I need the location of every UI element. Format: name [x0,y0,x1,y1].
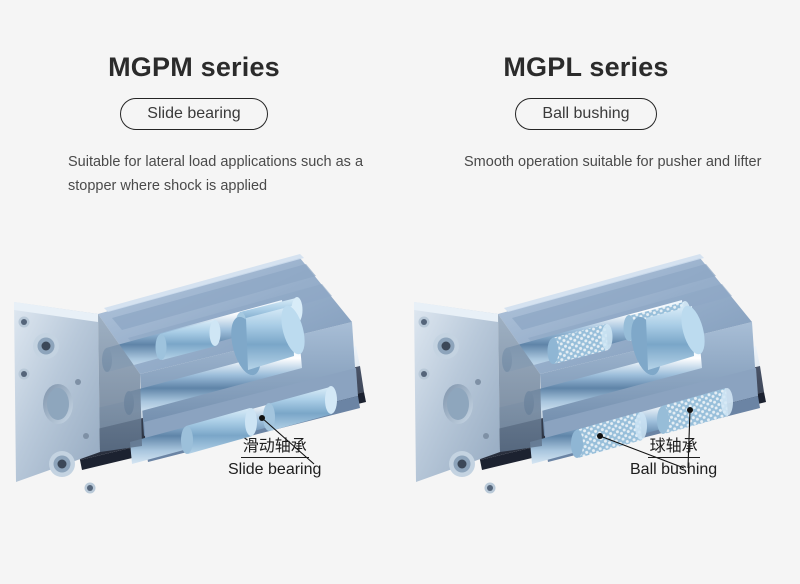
page-title-mgpm: MGPM series [0,52,394,83]
status-badge-ball-bushing: Ball bushing [515,98,656,130]
status-badge-slide-bearing: Slide bearing [120,98,267,130]
product-image-mgpl [400,196,800,496]
page-title-mgpl: MGPL series [386,52,786,83]
callout-label-cn: 球轴承 [648,436,700,458]
panel-mgpl: MGPL series Ball bushing Smooth operatio… [400,0,800,584]
description-mgpl: Smooth operation suitable for pusher and… [464,150,794,174]
callout-ball-bushing: 球轴承 Ball bushing [630,436,717,480]
callout-label-en: Ball bushing [630,460,717,480]
description-mgpm: Suitable for lateral load applications s… [68,150,398,198]
callout-slide-bearing: 滑动轴承 Slide bearing [228,436,321,480]
product-image-mgpm [0,196,400,496]
panel-mgpm: MGPM series Slide bearing Suitable for l… [0,0,400,584]
badge-wrap-mgpl: Ball bushing [386,98,786,130]
callout-label-cn: 滑动轴承 [241,436,309,458]
callout-label-en: Slide bearing [228,460,321,480]
badge-wrap-mgpm: Slide bearing [0,98,394,130]
